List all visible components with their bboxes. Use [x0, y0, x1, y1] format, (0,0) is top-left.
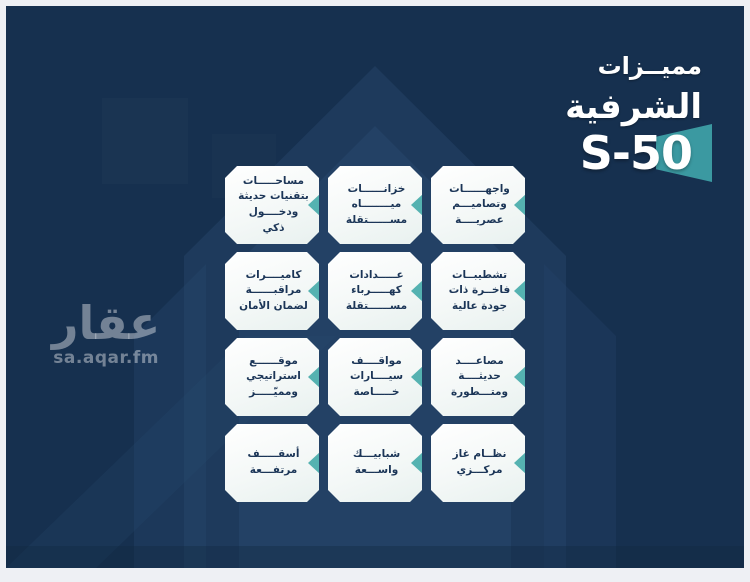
feature-card-label: نظــام غاز مركـــزي: [441, 447, 516, 478]
feature-card-label: تشطيبــات فاخــرة ذات جودة عالية: [437, 268, 520, 315]
header-code: S-50: [580, 126, 692, 180]
feature-card[interactable]: عـــــدادات كهـــــرباء مســــــتقلة: [328, 252, 422, 330]
feature-card[interactable]: مصاعــــد حديثــــة ومتـــطورة: [431, 338, 525, 416]
feature-card[interactable]: واجهــــــات وتصاميـــم عصريــــة: [431, 166, 525, 244]
feature-card-label: واجهــــــات وتصاميـــم عصريــــة: [437, 182, 519, 229]
feature-card[interactable]: مساحـــــات بتقنيات حديثة ودخــــول ذكي: [225, 166, 319, 244]
feature-card-label: مواقــــف سيــــارات خـــــاصة: [338, 354, 412, 401]
feature-card-label: كاميــــرات مراقبــــــة لضمان الأمان: [227, 268, 317, 315]
header-kicker: مميــزات: [565, 54, 702, 78]
feature-card[interactable]: خزانــــــات ميــــــــاه مســــــتقلة: [328, 166, 422, 244]
feature-card[interactable]: شبابيـــك واســـعة: [328, 424, 422, 502]
feature-card[interactable]: أسقـــــف مرتفـــعة: [225, 424, 319, 502]
feature-card-label: مساحـــــات بتقنيات حديثة ودخــــول ذكي: [225, 174, 319, 236]
chevron-left-icon: [514, 452, 526, 474]
feature-card[interactable]: كاميــــرات مراقبــــــة لضمان الأمان: [225, 252, 319, 330]
feature-grid: مساحـــــات بتقنيات حديثة ودخــــول ذكي …: [6, 166, 744, 502]
feature-card-label: خزانــــــات ميــــــــاه مســــــتقلة: [334, 182, 416, 229]
poster-canvas: مميــزات الشرفية S-50 عقار sa.aqar.fm مس…: [6, 6, 744, 568]
feature-card-label: مصاعــــد حديثــــة ومتـــطورة: [439, 354, 517, 401]
poster-frame: مميــزات الشرفية S-50 عقار sa.aqar.fm مس…: [0, 0, 750, 582]
feature-card[interactable]: تشطيبــات فاخــرة ذات جودة عالية: [431, 252, 525, 330]
feature-card-label: موقــــــع استراتيجي ومميّـــــز: [234, 354, 310, 401]
header: مميــزات الشرفية S-50: [565, 54, 702, 178]
feature-card[interactable]: نظــام غاز مركـــزي: [431, 424, 525, 502]
feature-card[interactable]: موقــــــع استراتيجي ومميّـــــز: [225, 338, 319, 416]
feature-row: كاميــــرات مراقبــــــة لضمان الأمان عـ…: [225, 252, 525, 330]
chevron-left-icon: [411, 366, 423, 388]
feature-card-label: عـــــدادات كهـــــرباء مســــــتقلة: [334, 268, 416, 315]
feature-card-label: أسقـــــف مرتفـــعة: [236, 447, 309, 478]
baseline-band: [6, 546, 744, 568]
feature-row: مساحـــــات بتقنيات حديثة ودخــــول ذكي …: [225, 166, 525, 244]
feature-row: أسقـــــف مرتفـــعة شبابيـــك واســـعة ن…: [225, 424, 525, 502]
header-code-badge: S-50: [576, 128, 702, 178]
feature-row: موقــــــع استراتيجي ومميّـــــز مواقـــ…: [225, 338, 525, 416]
feature-card[interactable]: مواقــــف سيــــارات خـــــاصة: [328, 338, 422, 416]
chevron-left-icon: [411, 452, 423, 474]
chevron-left-icon: [308, 452, 320, 474]
header-brand: الشرفية: [565, 90, 702, 124]
feature-card-label: شبابيـــك واســـعة: [341, 447, 409, 478]
